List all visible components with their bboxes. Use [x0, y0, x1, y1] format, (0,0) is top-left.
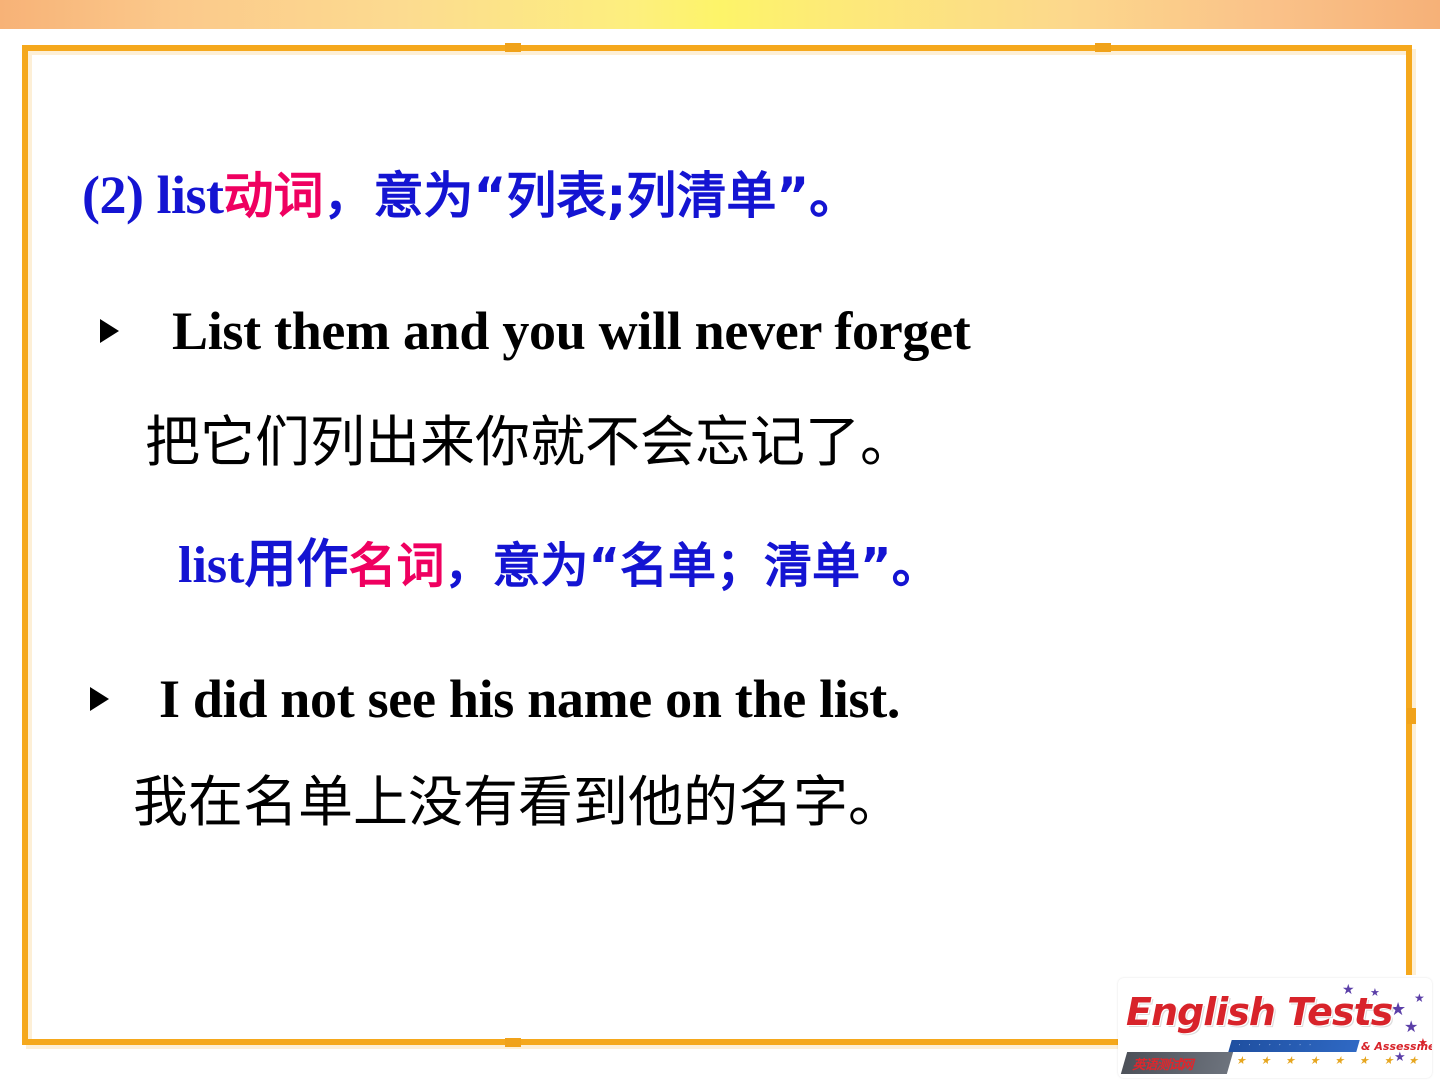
noun-note-line: list用作名词，意为“名单；清单”。 — [178, 540, 940, 592]
slide-canvas: (2) list动词，意为“列表;列清单”。 List them and you… — [0, 0, 1440, 1080]
logo-wordmark: English Tests — [1126, 990, 1392, 1034]
slide-content: (2) list动词，意为“列表;列清单”。 List them and you… — [0, 0, 1440, 1080]
heading-prefix: (2) list — [82, 165, 223, 225]
star-icon: ★ — [1404, 1020, 1418, 1036]
bullet-row-2: I did not see his name on the list. — [90, 668, 900, 730]
logo-subtitle: & Assessments — [1361, 1040, 1432, 1053]
triangle-bullet-icon — [100, 319, 119, 343]
bullet-2-english: I did not see his name on the list. — [159, 668, 900, 730]
bullet-row-1: List them and you will never forget — [100, 300, 970, 362]
heading-line: (2) list动词，意为“列表;列清单”。 — [82, 168, 859, 222]
star-icon: ★ — [1414, 992, 1425, 1004]
logo-tab-label: 英语测试网 — [1131, 1054, 1196, 1073]
star-icon: ★ — [1390, 1000, 1406, 1018]
bullet-2-chinese: 我在名单上没有看到他的名字。 — [133, 775, 903, 830]
heading-part-of-speech: 动词 — [223, 167, 323, 225]
bullet-1-english: List them and you will never forget — [172, 300, 970, 362]
logo-bar-dots: · · · · · · · · — [1237, 1041, 1352, 1051]
note-meaning: ，意为“名单；清单”。 — [444, 538, 939, 594]
logo-dot-row: ★ ★ ★ ★ ★ ★ ★ ★ — [1233, 1054, 1416, 1072]
triangle-bullet-icon — [90, 687, 109, 711]
heading-meaning: ，意为“列表;列清单”。 — [323, 167, 859, 225]
note-part-of-speech: 名词 — [348, 538, 444, 594]
note-prefix: list用作 — [178, 537, 348, 594]
bullet-1-chinese: 把它们列出来你就不会忘记了。 — [145, 415, 915, 470]
english-tests-logo: ★ ★ ★ ★ ★ ★ ★ English Tests · · · · · · … — [1118, 978, 1432, 1078]
